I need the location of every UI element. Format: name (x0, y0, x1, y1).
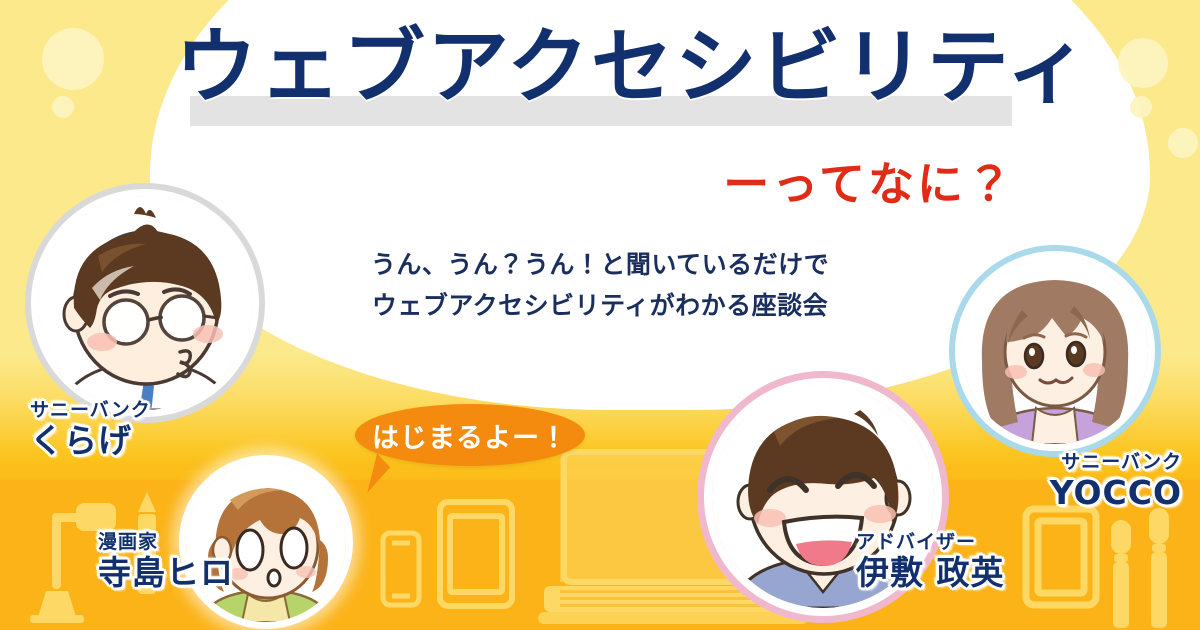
banner-canvas: ウェブアクセシビリティ ーってなに？ うん、うん？うん！と聞いているだけで ウェ… (0, 0, 1200, 630)
name-label-terashima: 漫画家 寺島ヒロ (98, 532, 234, 592)
name-label-kurage: サニーバンク くらげ (30, 400, 151, 460)
person-name: 伊敷 政英 (856, 554, 1005, 592)
page-title: ウェブアクセシビリティ (0, 24, 1200, 113)
person-name: 寺島ヒロ (98, 554, 234, 592)
person-name: YOCCO (1050, 474, 1182, 512)
tablet-icon (436, 498, 516, 610)
name-label-ishiki: アドバイザー 伊敷 政英 (856, 532, 1005, 592)
role-text: サニーバンク (1050, 452, 1182, 474)
smartphone-icon (380, 530, 422, 608)
microphone-icon (1146, 506, 1172, 630)
name-label-yocco: サニーバンク YOCCO (1050, 452, 1182, 512)
monitor-frame-icon (1022, 505, 1100, 609)
speech-bubble: はじまるよー！ (355, 404, 585, 466)
role-text: サニーバンク (30, 400, 151, 422)
role-text: 漫画家 (98, 532, 234, 554)
avatar-yocco (962, 258, 1148, 444)
role-text: アドバイザー (856, 532, 1005, 554)
title-suffix: ーってなに？ (723, 148, 1015, 214)
person-name: くらげ (30, 422, 151, 460)
speech-bubble-text: はじまるよー！ (372, 416, 568, 455)
headline-group: ウェブアクセシビリティ (0, 24, 1200, 113)
microphone-icon (1108, 518, 1134, 630)
avatar-kurage (38, 196, 252, 410)
decorative-dot (1168, 128, 1198, 158)
